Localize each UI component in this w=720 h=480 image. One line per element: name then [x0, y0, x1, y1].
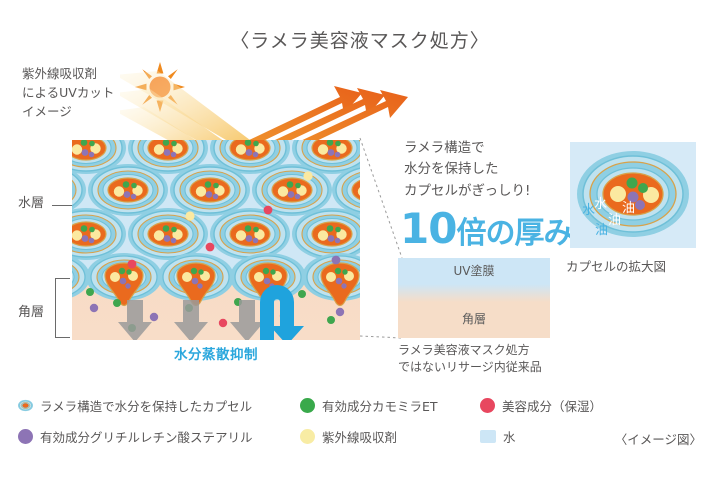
capsule-row-3 — [72, 208, 360, 260]
legend-item-water: 水 — [480, 427, 516, 446]
legend-item-glycyrrhetinate: 有効成分グリチルレチン酸ステアリル — [18, 427, 253, 446]
stratum-label: 角層 — [398, 310, 550, 327]
mag-label-oil-3: 油 — [595, 223, 608, 238]
explanation-line-1: ラメラ構造で — [404, 138, 589, 159]
comparison-caption: ラメラ美容液マスク処方 ではないリサージ内従来品 — [398, 342, 598, 377]
mag-label-oil-2: 油 — [608, 213, 621, 228]
dot-icon-green — [300, 398, 315, 413]
mag-label-oil-1: 油 — [622, 201, 635, 216]
evaporation-arrows — [118, 300, 264, 340]
uv-film-label: UV塗膜 — [398, 262, 550, 279]
thickness-comparison-bar: UV塗膜 角層 — [398, 258, 550, 338]
legend: ラメラ構造で水分を保持したカプセル 有効成分グリチルレチン酸ステアリル 有効成分… — [0, 396, 720, 458]
mag-label-water-2: 水 — [594, 197, 607, 212]
explanation-line-3: カプセルがぎっしり! — [404, 181, 589, 202]
lamellar-structure-diagram — [72, 140, 360, 340]
magnification-caption: カプセルの拡大図 — [566, 256, 666, 275]
lamellar-explanation: ラメラ構造で 水分を保持した カプセルがぎっしり! — [404, 138, 589, 202]
legend-label-chamomile: 有効成分カモミラET — [322, 396, 438, 415]
legend-label-glycyrrhetinate: 有効成分グリチルレチン酸ステアリル — [40, 427, 253, 446]
stratum-corneum-bracket — [55, 278, 70, 338]
dot-icon-yellow — [300, 429, 315, 444]
legend-label-capsule: ラメラ構造で水分を保持したカプセル — [40, 396, 252, 415]
capsule-magnification-panel: 水 水 油 油 油 — [570, 142, 696, 248]
capsule-icon — [18, 398, 33, 413]
legend-item-capsule: ラメラ構造で水分を保持したカプセル — [18, 396, 252, 415]
comparison-caption-line-1: ラメラ美容液マスク処方 — [398, 342, 598, 359]
legend-label-moisturizer: 美容成分（保湿） — [502, 396, 602, 415]
square-icon-water — [480, 430, 496, 443]
explanation-line-2: 水分を保持した — [404, 159, 589, 180]
thickness-number: 10 — [400, 204, 456, 253]
page-title: 〈ラメラ美容液マスク処方〉 — [0, 26, 720, 53]
comparison-blend — [398, 284, 550, 302]
legend-label-uv-absorber: 紫外線吸収剤 — [322, 427, 397, 446]
capsule-row-2 — [72, 164, 360, 216]
dot-icon-red — [480, 398, 495, 413]
legend-item-chamomile: 有効成分カモミラET — [300, 396, 438, 415]
comparison-caption-line-2: ではないリサージ内従来品 — [398, 359, 598, 376]
legend-item-moisturizer: 美容成分（保湿） — [480, 396, 602, 415]
thickness-headline: 10倍の厚み — [400, 208, 572, 250]
moisture-retention-caption: 水分蒸散抑制 — [72, 343, 360, 363]
thickness-unit: 倍の厚み — [456, 216, 572, 251]
capsule-row-surface — [72, 253, 360, 306]
capsule-field — [72, 140, 360, 340]
label-water-layer: 水層 — [18, 192, 44, 211]
moisture-retention-arrow — [260, 285, 304, 340]
capsule-cross-section: 水 水 油 油 油 — [570, 142, 696, 248]
dot-icon-purple — [18, 429, 33, 444]
legend-label-water: 水 — [503, 427, 516, 446]
label-stratum-corneum: 角層 — [18, 301, 44, 320]
legend-item-uv-absorber: 紫外線吸収剤 — [300, 427, 397, 446]
image-note: 〈イメージ図〉 — [615, 429, 702, 448]
